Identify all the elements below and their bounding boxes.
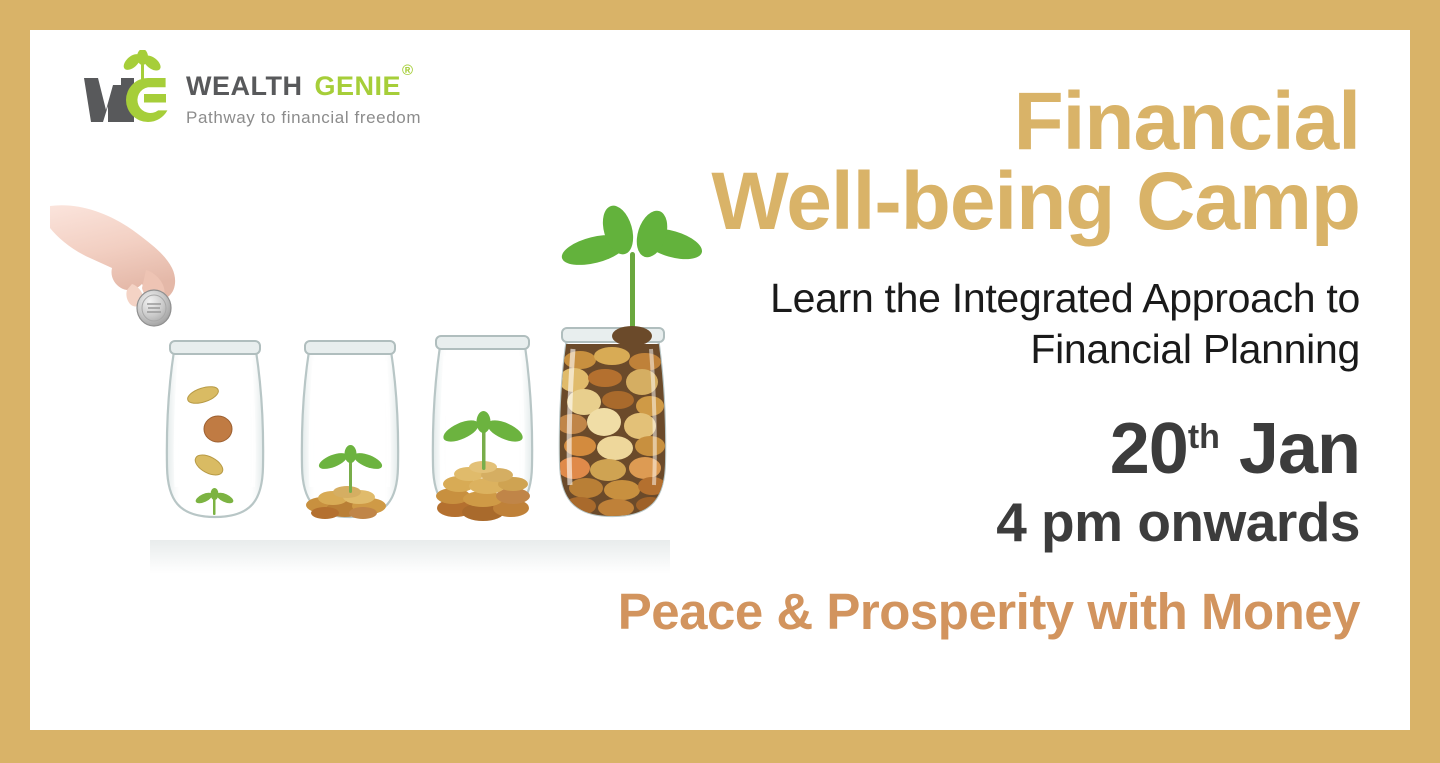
event-date: 20th Jan <box>560 413 1360 485</box>
page-title: Financial Well-being Camp <box>560 82 1360 243</box>
jar-rim <box>305 341 395 354</box>
event-month: Jan <box>1239 409 1360 489</box>
subtitle-line-1: Learn the Integrated Approach to <box>560 273 1360 324</box>
event-datetime: 20th Jan 4 pm onwards <box>560 413 1360 554</box>
jar-rim <box>170 341 260 354</box>
banner-frame: Wealth Genie ® Pathway to financial free… <box>0 0 1440 763</box>
event-day-ordinal: th <box>1188 418 1220 456</box>
logo-sprout-icon <box>121 50 163 82</box>
logo-word-genie: Genie <box>314 64 401 102</box>
jar-stage-1 <box>160 337 270 542</box>
event-day: 20 <box>1110 409 1188 489</box>
wealth-genie-logo: Wealth Genie ® Pathway to financial free… <box>82 50 423 128</box>
logo-wordmark-block: Wealth Genie ® Pathway to financial free… <box>186 50 423 128</box>
registered-trademark-icon: ® <box>402 63 414 78</box>
logo-tagline: Pathway to financial freedom <box>186 108 423 128</box>
event-time: 4 pm onwards <box>560 491 1360 554</box>
headline-line-2: Well-being Camp <box>560 162 1360 242</box>
jar-stage-2 <box>295 337 405 542</box>
banner-canvas: Wealth Genie ® Pathway to financial free… <box>30 30 1410 730</box>
hand-dropping-coin <box>50 200 225 350</box>
jar-stage-3 <box>425 332 540 542</box>
headline-line-1: Financial <box>560 82 1360 162</box>
logo-wordmark: Wealth Genie ® <box>186 64 423 102</box>
subtitle: Learn the Integrated Approach to Financi… <box>560 273 1360 376</box>
jar-rim <box>436 336 529 349</box>
promo-text-column: Financial Well-being Camp Learn the Inte… <box>560 82 1360 637</box>
wealth-genie-logo-mark <box>82 50 178 128</box>
event-tagline: Peace & Prosperity with Money <box>560 586 1360 637</box>
silver-coin <box>137 290 171 326</box>
logo-word-wealth: Wealth <box>186 64 302 102</box>
subtitle-line-2: Financial Planning <box>560 324 1360 375</box>
